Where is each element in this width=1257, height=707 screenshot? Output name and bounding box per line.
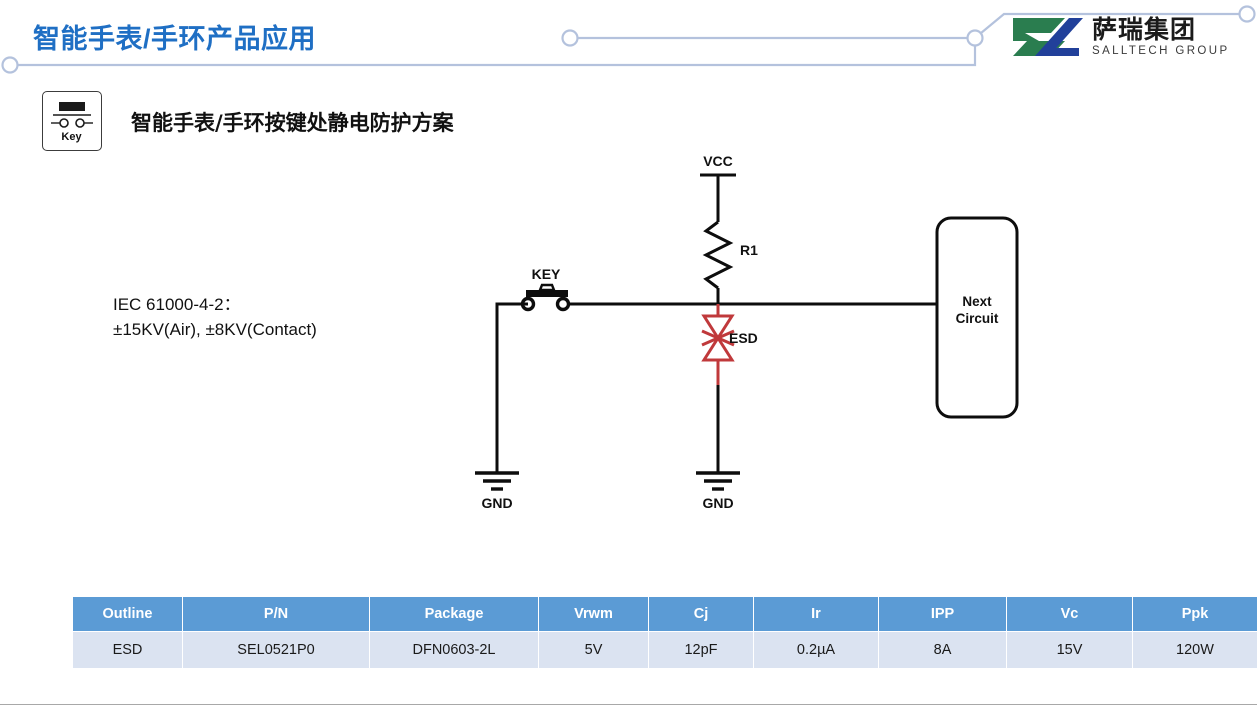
spec-table-header-row: Outline P/N Package Vrwm Cj Ir IPP Vc Pp… [73, 597, 1257, 632]
gnd-right-label: GND [702, 495, 733, 511]
gnd-left: GND [475, 304, 528, 511]
col-vc: Vc [1007, 597, 1133, 632]
esd-label: ESD [729, 330, 758, 346]
cell-vrwm: 5V [539, 632, 649, 669]
iec-standard-note: IEC 61000-4-2： ±15KV(Air), ±8KV(Contact) [113, 293, 317, 342]
deco-node-left [3, 58, 18, 73]
col-outline: Outline [73, 597, 183, 632]
key-badge: Key [42, 91, 102, 151]
col-pn: P/N [183, 597, 370, 632]
cell-ppk: 120W [1133, 632, 1257, 669]
col-ir: Ir [754, 597, 879, 632]
gnd-left-label: GND [481, 495, 512, 511]
cell-package: DFN0603-2L [370, 632, 539, 669]
vcc-node: VCC [700, 153, 736, 222]
key-switch: KEY [523, 266, 569, 310]
key-badge-label: Key [61, 131, 82, 143]
salltech-logo-icon [1009, 14, 1083, 60]
logo-name-en: SALLTECH GROUP [1092, 46, 1230, 58]
company-logo: 萨瑞集团 SALLTECH GROUP [1009, 14, 1230, 60]
col-ipp: IPP [879, 597, 1007, 632]
gnd-right: GND [696, 385, 740, 511]
key-label: KEY [532, 266, 561, 282]
deco-node-right [1240, 7, 1255, 22]
next-circuit-block: Next Circuit [937, 218, 1017, 417]
vcc-label: VCC [703, 153, 733, 169]
table-row: ESD SEL0521P0 DFN0603-2L 5V 12pF 0.2µA 8… [73, 632, 1257, 669]
bottom-divider [0, 704, 1257, 705]
resistor-label: R1 [740, 242, 758, 258]
deco-node-mid [563, 31, 578, 46]
next-circuit-line2: Circuit [956, 311, 999, 326]
page-title: 智能手表/手环产品应用 [33, 17, 316, 56]
logo-name-cn: 萨瑞集团 [1092, 17, 1230, 42]
cell-cj: 12pF [649, 632, 754, 669]
col-ppk: Ppk [1133, 597, 1257, 632]
deco-node-junction [968, 31, 983, 46]
key-switch-icon: Key [43, 92, 100, 149]
cell-pn: SEL0521P0 [183, 632, 370, 669]
col-vrwm: Vrwm [539, 597, 649, 632]
resistor-r1: R1 [706, 222, 758, 304]
slide-page: 智能手表/手环产品应用 萨瑞集团 SALLTECH GROUP Key 智能手表… [0, 0, 1257, 707]
circuit-schematic: VCC R1 KEY GND [0, 0, 1257, 580]
col-package: Package [370, 597, 539, 632]
cell-outline: ESD [73, 632, 183, 669]
section-title: 智能手表/手环按键处静电防护方案 [131, 107, 454, 137]
spec-table: Outline P/N Package Vrwm Cj Ir IPP Vc Pp… [72, 596, 1257, 669]
cell-vc: 15V [1007, 632, 1133, 669]
next-circuit-line1: Next [962, 294, 992, 309]
esd-diode: ESD [702, 304, 758, 385]
cell-ipp: 8A [879, 632, 1007, 669]
col-cj: Cj [649, 597, 754, 632]
cell-ir: 0.2µA [754, 632, 879, 669]
